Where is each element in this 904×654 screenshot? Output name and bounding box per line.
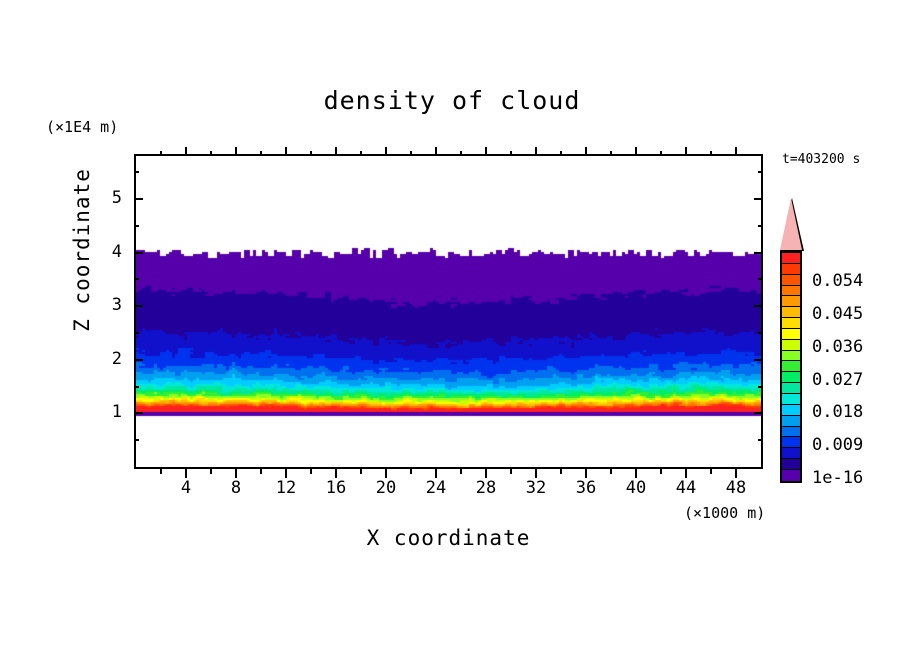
colorbar-band	[782, 394, 800, 405]
figure-canvas: density of cloud (×1E4 m) t=403200 s (×1…	[0, 0, 904, 654]
y-tick	[134, 198, 143, 200]
x-tick	[385, 469, 387, 478]
x-tick-label: 16	[316, 478, 356, 498]
x-axis-title: X coordinate	[134, 526, 763, 550]
x-tick	[685, 469, 687, 478]
x-tick-top	[585, 147, 587, 156]
x-tick-top	[710, 151, 712, 156]
colorbar-tick-label: 0.054	[812, 271, 863, 291]
x-tick-top	[460, 151, 462, 156]
colorbar-band	[782, 253, 800, 264]
x-tick	[260, 469, 262, 474]
colorbar-band	[782, 459, 800, 470]
x-tick-top	[360, 151, 362, 156]
colorbar-tick-label: 0.027	[812, 370, 863, 390]
x-tick-top	[685, 147, 687, 156]
colorbar-band	[782, 372, 800, 383]
y-tick-right	[758, 386, 763, 388]
x-tick	[335, 469, 337, 478]
x-tick	[210, 469, 212, 474]
x-tick-top	[385, 147, 387, 156]
x-tick-label: 28	[466, 478, 506, 498]
y-tick-right	[758, 225, 763, 227]
x-tick	[160, 469, 162, 474]
colorbar-band	[782, 275, 800, 286]
y-axis-unit-label: (×1E4 m)	[46, 118, 118, 136]
y-tick-label: 5	[98, 188, 122, 208]
y-tick	[134, 386, 139, 388]
y-tick-right	[754, 252, 763, 254]
x-tick-top	[160, 151, 162, 156]
colorbar-band	[782, 351, 800, 362]
colorbar-band	[782, 405, 800, 416]
x-tick-top	[610, 151, 612, 156]
x-tick-top	[510, 151, 512, 156]
x-tick-top	[310, 151, 312, 156]
y-tick	[134, 439, 139, 441]
x-tick-top	[210, 151, 212, 156]
y-tick-right	[758, 439, 763, 441]
x-tick-top	[335, 147, 337, 156]
colorbar-band	[782, 383, 800, 394]
colorbar-tick-label: 0.009	[812, 435, 863, 455]
y-tick	[134, 359, 143, 361]
colorbar-band	[782, 318, 800, 329]
x-tick-label: 44	[666, 478, 706, 498]
x-tick-label: 12	[266, 478, 306, 498]
x-tick	[610, 469, 612, 474]
x-tick	[535, 469, 537, 478]
y-tick	[134, 305, 143, 307]
colorbar-band	[782, 427, 800, 438]
y-tick-label: 1	[98, 402, 122, 422]
x-tick-top	[410, 151, 412, 156]
x-tick	[235, 469, 237, 478]
x-tick	[285, 469, 287, 478]
y-tick-right	[758, 278, 763, 280]
colorbar-overflow-arrow	[780, 198, 802, 250]
colorbar-band	[782, 448, 800, 459]
page-title: density of cloud	[0, 86, 904, 115]
colorbar-gradient	[780, 251, 802, 483]
y-tick-right	[758, 332, 763, 334]
x-tick	[485, 469, 487, 478]
y-tick	[134, 225, 139, 227]
x-axis-unit-label: (×1000 m)	[684, 504, 765, 522]
y-tick-right	[754, 305, 763, 307]
y-tick-right	[754, 359, 763, 361]
plot-area	[134, 154, 763, 469]
x-tick-top	[635, 147, 637, 156]
x-tick-top	[535, 147, 537, 156]
x-tick	[635, 469, 637, 478]
x-tick-label: 36	[566, 478, 606, 498]
x-tick	[185, 469, 187, 478]
x-tick-top	[185, 147, 187, 156]
y-tick	[134, 171, 139, 173]
colorbar-band	[782, 329, 800, 340]
x-tick	[660, 469, 662, 474]
y-tick-label: 3	[98, 295, 122, 315]
x-tick-top	[260, 151, 262, 156]
colorbar-tick-label: 0.045	[812, 304, 863, 324]
y-tick	[134, 412, 143, 414]
x-tick-top	[485, 147, 487, 156]
colorbar-band	[782, 307, 800, 318]
colorbar-band	[782, 286, 800, 297]
y-tick	[134, 278, 139, 280]
x-tick-label: 32	[516, 478, 556, 498]
colorbar-band	[782, 264, 800, 275]
y-tick-right	[754, 412, 763, 414]
x-tick	[310, 469, 312, 474]
x-tick	[585, 469, 587, 478]
x-tick	[360, 469, 362, 474]
x-tick-top	[235, 147, 237, 156]
x-tick-top	[435, 147, 437, 156]
colorbar-tick-label: 0.018	[812, 402, 863, 422]
x-tick-label: 4	[166, 478, 206, 498]
cloud-density-field	[136, 156, 761, 467]
x-tick	[735, 469, 737, 478]
x-tick-label: 40	[616, 478, 656, 498]
colorbar-band	[782, 340, 800, 351]
x-tick	[410, 469, 412, 474]
x-tick	[435, 469, 437, 478]
x-tick-label: 8	[216, 478, 256, 498]
x-tick-top	[560, 151, 562, 156]
colorbar-band	[782, 437, 800, 448]
x-tick	[710, 469, 712, 474]
colorbar-band	[782, 361, 800, 372]
colorbar-band	[782, 416, 800, 427]
y-tick-label: 2	[98, 349, 122, 369]
colorbar-band	[782, 296, 800, 307]
x-tick	[460, 469, 462, 474]
y-tick-right	[758, 171, 763, 173]
x-tick-label: 48	[716, 478, 756, 498]
y-tick-right	[754, 198, 763, 200]
y-tick	[134, 332, 139, 334]
x-tick-label: 24	[416, 478, 456, 498]
x-tick-label: 20	[366, 478, 406, 498]
colorbar-tick-label: 0.036	[812, 337, 863, 357]
y-tick-label: 4	[98, 242, 122, 262]
y-tick	[134, 252, 143, 254]
y-axis-title: Z coordinate	[70, 160, 94, 340]
x-tick-top	[285, 147, 287, 156]
colorbar-band	[782, 470, 800, 481]
time-annotation: t=403200 s	[782, 152, 860, 167]
x-tick	[510, 469, 512, 474]
x-tick-top	[660, 151, 662, 156]
x-tick	[560, 469, 562, 474]
colorbar-tick-label: 1e-16	[812, 468, 863, 488]
x-tick-top	[735, 147, 737, 156]
